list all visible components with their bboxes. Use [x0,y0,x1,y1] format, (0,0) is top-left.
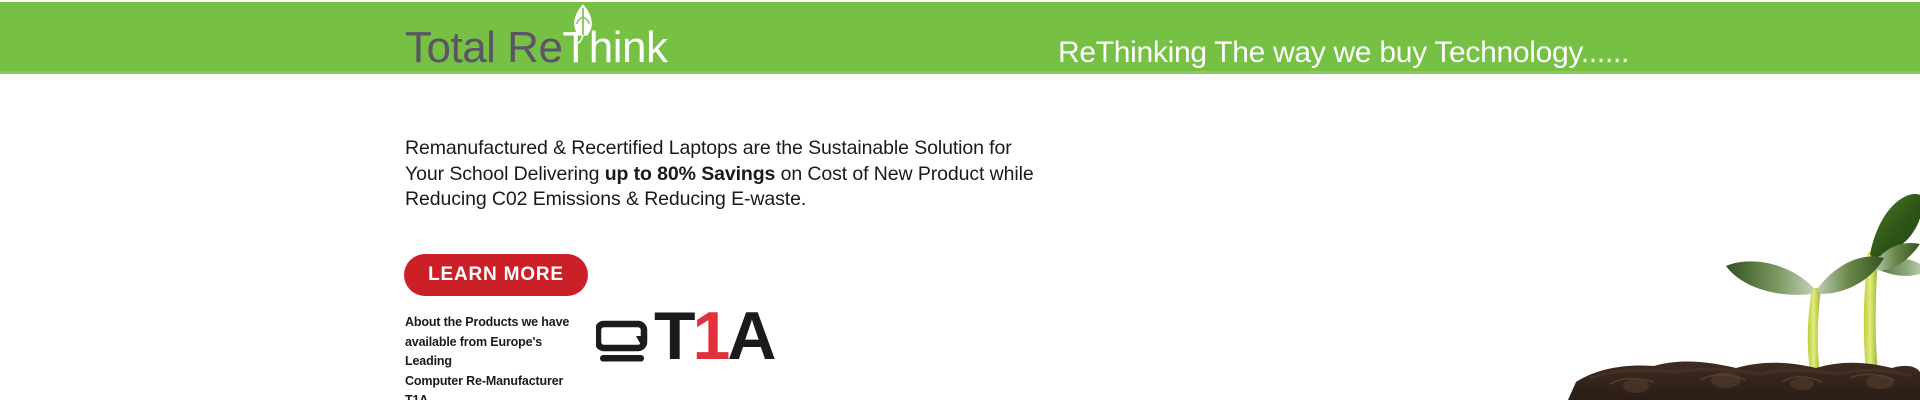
promotional-banner: Total ReThink ReThinking The way we buy … [0,0,1920,400]
t1a-letter-a: A [727,298,773,374]
learn-more-button[interactable]: LEARN MORE [404,254,588,296]
t1a-letter-t: T [654,298,693,374]
leaf-icon [568,3,598,45]
seedlings-illustration [1550,76,1920,400]
header-tagline: ReThinking The way we buy Technology....… [1058,36,1629,70]
t1a-partner-logo[interactable]: T1A [596,310,773,370]
partner-footnote-line-3: Computer Re-Manufacturer T1A [405,372,580,400]
partner-footnote: About the Products we have available fro… [405,313,580,400]
partner-footnote-line-1: About the Products we have [405,313,580,333]
headline-copy: Remanufactured & Recertified Laptops are… [405,136,1045,213]
logo-text-primary: Total Re [405,23,562,72]
seedlings-in-soil-photo [1550,76,1920,400]
headline-highlight: up to 80% Savings [605,163,776,185]
header-bar-bottom-edge [0,71,1920,74]
t1a-letter-one: 1 [693,298,728,374]
brand-logo[interactable]: Total ReThink [405,10,668,70]
laptop-recycle-icon [596,316,652,364]
partner-footnote-line-2: available from Europe's Leading [405,333,580,372]
header-bar [0,2,1920,74]
